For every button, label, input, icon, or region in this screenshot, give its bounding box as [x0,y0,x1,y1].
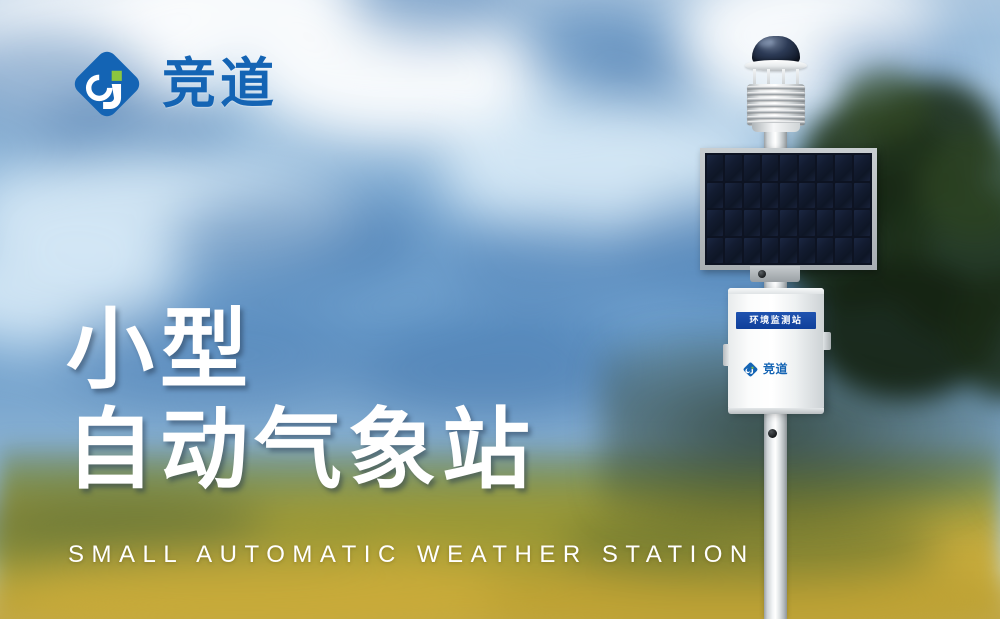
brand-logo[interactable]: 竞道 [68,45,278,123]
ultrasonic-weather-sensor [740,30,812,140]
jingdao-diamond-logo-icon [742,361,759,378]
enclosure-label-text: 环境监测站 [749,316,802,325]
solar-cell-grid [705,153,872,265]
headline-line-1: 小型 [66,300,536,400]
headline-line-2: 自动气象站 [66,400,536,500]
data-logger-enclosure: 环境监测站 竞道 [728,288,824,410]
radiation-shield [747,84,805,126]
enclosure-bottom-edge [728,408,824,414]
weather-station-device: 环境监测站 竞道 [690,30,890,619]
enclosure-brand-name: 竞道 [763,363,788,375]
page-title: 小型 自动气象站 [66,300,536,501]
solar-panel-bracket [750,266,800,282]
brand-name: 竞道 [162,57,278,111]
enclosure-mount-right [823,332,831,350]
enclosure-top-edge [728,288,824,294]
sensor-base [752,123,800,132]
enclosure-mount-left [723,344,729,366]
page-subtitle: SMALL AUTOMATIC WEATHER STATION [68,541,755,569]
solar-panel [700,148,877,270]
enclosure-brand-logo: 竞道 [742,360,810,378]
enclosure-label-banner: 环境监测站 [736,312,816,329]
weather-station-banner: 环境监测站 竞道 竞道 [0,0,1000,619]
jingdao-diamond-logo-icon [68,45,146,123]
mast-bolt [768,429,777,438]
